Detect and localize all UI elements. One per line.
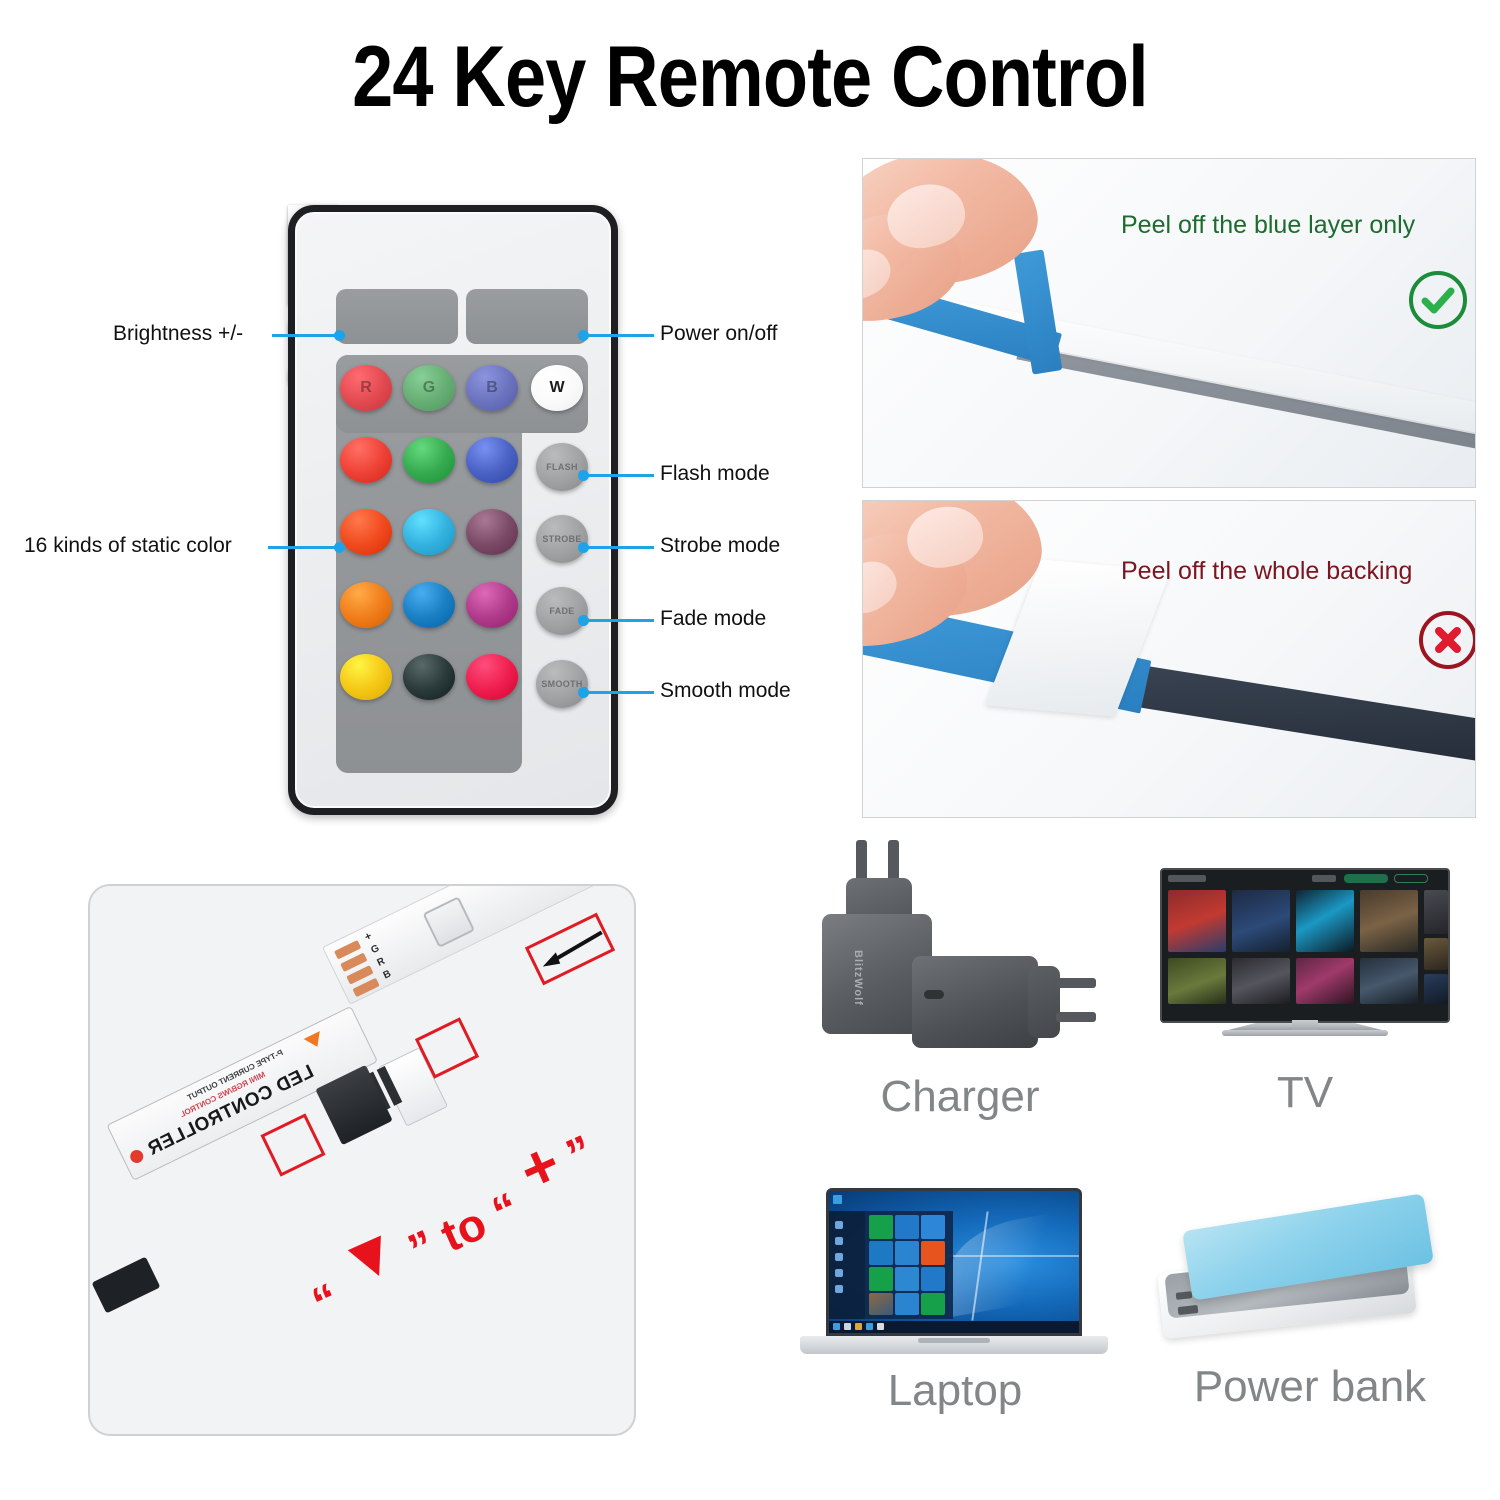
smooth-mode-button[interactable]: SMOOTH: [536, 660, 588, 708]
tv-icon: [1150, 868, 1460, 1068]
peel-note-correct: Peel off the blue layer only: [1121, 211, 1415, 240]
color-button-label: G: [423, 379, 435, 397]
flash-mode-button[interactable]: FLASH: [536, 443, 588, 491]
strip-pin-label-g: G: [369, 943, 381, 956]
callout-static-color-label: 16 kinds of static color: [24, 534, 232, 558]
static-color-button[interactable]: [403, 437, 455, 483]
static-color-button[interactable]: [466, 654, 518, 700]
fade-mode-button[interactable]: FADE: [536, 587, 588, 635]
triangle-highlight-box: [260, 1113, 325, 1176]
static-color-button[interactable]: [340, 437, 392, 483]
callout-static-color-dot: [334, 542, 345, 553]
color-button-label: B: [486, 379, 498, 397]
strobe-mode-button[interactable]: STROBE: [536, 515, 588, 563]
charger-brand-text: BlitzWolf: [842, 950, 864, 1008]
strip-pin-label-b: B: [382, 968, 393, 981]
static-color-button[interactable]: [340, 654, 392, 700]
infographic-root: 24 Key Remote Control: [0, 0, 1500, 1500]
power-bank-label: Power bank: [1150, 1362, 1470, 1412]
peel-instruction-panel-correct: Peel off the blue layer only: [862, 158, 1476, 488]
charger-label: Charger: [800, 1072, 1120, 1122]
callout-static-color-line: [268, 546, 340, 549]
charger-icon: BlitzWolf: [800, 838, 1120, 1068]
callout-brightness-dot: [334, 330, 345, 341]
check-icon: [1409, 271, 1467, 329]
callout-smooth-label: Smooth mode: [660, 679, 791, 703]
color-button-r[interactable]: R: [340, 365, 392, 411]
tv-label: TV: [1150, 1068, 1460, 1118]
strip-pin-label-r: R: [376, 956, 387, 969]
led-chip: [422, 896, 475, 948]
callout-flash-label: Flash mode: [660, 462, 770, 486]
wiring-diagram-panel: + G R B LED CONTROLLER MINI RGB/WS C: [88, 884, 636, 1436]
power-bank-icon: [1150, 1196, 1470, 1366]
static-color-button[interactable]: [466, 582, 518, 628]
static-color-button[interactable]: [403, 654, 455, 700]
callout-fade-label: Fade mode: [660, 607, 766, 631]
laptop-trackpad: [918, 1338, 990, 1343]
controller-triangle-marker: [304, 1031, 326, 1051]
static-color-button[interactable]: [403, 582, 455, 628]
strip-pin-label-plus: +: [363, 930, 374, 944]
callout-power-label: Power on/off: [660, 322, 778, 346]
callout-power-line: [586, 334, 654, 337]
callout-smooth-line: [586, 691, 654, 694]
static-color-button[interactable]: [340, 582, 392, 628]
callout-fade-line: [586, 619, 654, 622]
remote-control-illustration: OFF ON R G B W FLASH STROBE FADE SMOOTH: [288, 205, 618, 815]
controller-indicator: [128, 1148, 145, 1165]
controller-wire-end: [92, 1257, 161, 1314]
peel-note-incorrect: Peel off the whole backing: [1121, 557, 1412, 586]
color-button-g[interactable]: G: [403, 365, 455, 411]
page-title: 24 Key Remote Control: [105, 28, 1395, 127]
color-button-w[interactable]: W: [531, 365, 583, 411]
static-color-button[interactable]: [466, 437, 518, 483]
annotation-to-text: ” to “: [400, 1181, 527, 1277]
color-button-b[interactable]: B: [466, 365, 518, 411]
callout-brightness-label: Brightness +/-: [113, 322, 243, 346]
mode-button-label: FADE: [549, 606, 574, 616]
static-color-button[interactable]: [403, 509, 455, 555]
annotation-close-quote: ”: [558, 1124, 601, 1183]
callout-flash-line: [586, 474, 654, 477]
brightness-group: [336, 289, 458, 344]
mode-button-label: FLASH: [546, 462, 578, 472]
laptop-icon: [790, 1188, 1120, 1368]
mode-button-label: SMOOTH: [541, 679, 582, 689]
annotation-open-quote: “: [304, 1272, 347, 1331]
usb-c-port: [924, 990, 944, 999]
color-button-label: W: [549, 379, 564, 397]
callout-brightness-line: [272, 334, 340, 337]
power-group: [466, 289, 588, 344]
mode-button-label: STROBE: [542, 534, 581, 544]
peel-instruction-panel-incorrect: Peel off the whole backing: [862, 500, 1476, 818]
callout-strobe-label: Strobe mode: [660, 534, 780, 558]
callout-strobe-line: [586, 546, 654, 549]
static-color-button[interactable]: [466, 509, 518, 555]
laptop-label: Laptop: [790, 1366, 1120, 1416]
cross-icon: [1419, 611, 1476, 669]
static-color-button[interactable]: [340, 509, 392, 555]
color-button-label: R: [360, 379, 372, 397]
annotation-triangle-icon: ▼: [330, 1216, 411, 1298]
